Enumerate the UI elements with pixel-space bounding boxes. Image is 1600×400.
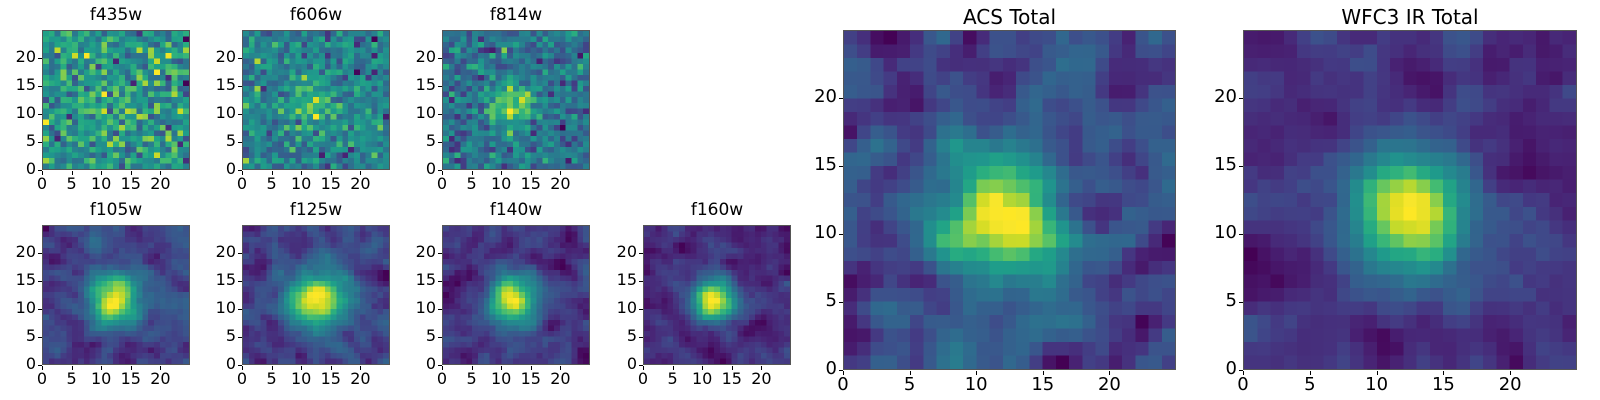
- x-tick-label: 0: [821, 376, 865, 394]
- y-tick-label: 20: [2, 244, 36, 260]
- y-tick-label: 0: [2, 161, 36, 177]
- x-tick-mark: [1310, 371, 1311, 375]
- y-tick-label: 10: [402, 105, 436, 121]
- panel-title: f125w: [242, 200, 390, 220]
- y-tick-label: 15: [202, 272, 236, 288]
- y-tick-mark: [839, 98, 843, 99]
- x-tick-label: 20: [538, 371, 582, 387]
- x-tick-mark: [42, 366, 43, 370]
- y-tick-label: 5: [603, 328, 637, 344]
- x-tick-mark: [360, 366, 361, 370]
- x-tick-mark: [72, 171, 73, 175]
- x-tick-mark: [560, 366, 561, 370]
- heatmap-canvas: [43, 31, 189, 169]
- x-tick-mark: [331, 366, 332, 370]
- x-tick-mark: [560, 171, 561, 175]
- x-tick-label: 5: [888, 376, 932, 394]
- y-tick-label: 5: [402, 328, 436, 344]
- y-tick-mark: [38, 58, 42, 59]
- x-tick-mark: [131, 171, 132, 175]
- y-tick-label: 20: [1203, 88, 1237, 106]
- x-tick-mark: [732, 366, 733, 370]
- x-tick-label: 20: [739, 371, 783, 387]
- heatmap-canvas: [1244, 31, 1576, 369]
- y-tick-mark: [238, 337, 242, 338]
- y-tick-label: 20: [603, 244, 637, 260]
- y-tick-label: 0: [402, 356, 436, 372]
- y-tick-label: 0: [603, 356, 637, 372]
- y-tick-label: 10: [2, 105, 36, 121]
- x-tick-mark: [242, 366, 243, 370]
- y-tick-mark: [1239, 234, 1243, 235]
- y-tick-label: 15: [202, 77, 236, 93]
- heatmap-canvas: [644, 226, 790, 364]
- panel-title: ACS Total: [843, 5, 1176, 29]
- y-tick-label: 20: [202, 244, 236, 260]
- y-tick-label: 10: [402, 300, 436, 316]
- panel-f606w: f606w0510152005101520: [202, 4, 390, 200]
- panel-title: f140w: [442, 200, 590, 220]
- figure-canvas: f435w0510152005101520f606w05101520051015…: [0, 0, 1600, 400]
- panel-f435w: f435w0510152005101520: [2, 4, 190, 200]
- x-tick-mark: [442, 171, 443, 175]
- y-tick-label: 10: [803, 224, 837, 242]
- y-tick-label: 15: [1203, 156, 1237, 174]
- x-tick-label: 20: [538, 176, 582, 192]
- x-tick-label: 20: [1087, 376, 1131, 394]
- panel-f140w: f140w0510152005101520: [402, 199, 590, 395]
- heatmap-image: [1243, 30, 1577, 370]
- y-tick-label: 20: [402, 244, 436, 260]
- x-tick-mark: [360, 171, 361, 175]
- y-tick-mark: [38, 86, 42, 87]
- y-tick-label: 5: [202, 133, 236, 149]
- x-tick-label: 0: [1221, 376, 1265, 394]
- panel-title: f606w: [242, 5, 390, 25]
- x-tick-mark: [1043, 371, 1044, 375]
- y-tick-mark: [238, 253, 242, 254]
- y-tick-mark: [238, 58, 242, 59]
- x-tick-mark: [472, 366, 473, 370]
- y-tick-mark: [1239, 302, 1243, 303]
- y-tick-label: 20: [2, 49, 36, 65]
- y-tick-label: 20: [803, 88, 837, 106]
- x-tick-mark: [1377, 371, 1378, 375]
- heatmap-canvas: [844, 31, 1175, 369]
- y-tick-mark: [1239, 166, 1243, 167]
- x-tick-mark: [1109, 371, 1110, 375]
- y-tick-mark: [438, 337, 442, 338]
- y-tick-mark: [1239, 98, 1243, 99]
- x-tick-mark: [531, 366, 532, 370]
- x-tick-mark: [472, 171, 473, 175]
- heatmap-canvas: [443, 226, 589, 364]
- y-tick-label: 20: [402, 49, 436, 65]
- x-tick-mark: [843, 371, 844, 375]
- x-tick-mark: [331, 171, 332, 175]
- y-tick-mark: [438, 58, 442, 59]
- x-tick-label: 20: [338, 371, 382, 387]
- y-tick-mark: [438, 114, 442, 115]
- x-tick-mark: [301, 171, 302, 175]
- x-tick-label: 20: [138, 371, 182, 387]
- heatmap-canvas: [443, 31, 589, 169]
- y-tick-mark: [38, 337, 42, 338]
- y-tick-label: 15: [2, 272, 36, 288]
- y-tick-label: 0: [202, 356, 236, 372]
- x-tick-mark: [501, 171, 502, 175]
- panel-acs-total: ACS Total0510152005101520: [803, 4, 1176, 400]
- x-tick-mark: [1443, 371, 1444, 375]
- y-tick-mark: [438, 142, 442, 143]
- y-tick-mark: [38, 142, 42, 143]
- y-tick-mark: [38, 281, 42, 282]
- heatmap-canvas: [243, 226, 389, 364]
- x-tick-mark: [101, 366, 102, 370]
- x-tick-mark: [242, 171, 243, 175]
- y-tick-label: 10: [202, 300, 236, 316]
- y-tick-mark: [38, 114, 42, 115]
- x-tick-label: 15: [1021, 376, 1065, 394]
- x-tick-mark: [131, 366, 132, 370]
- x-tick-label: 20: [1488, 376, 1532, 394]
- y-tick-label: 10: [603, 300, 637, 316]
- panel-title: f105w: [42, 200, 190, 220]
- y-tick-mark: [438, 86, 442, 87]
- panel-f105w: f105w0510152005101520: [2, 199, 190, 395]
- y-tick-label: 15: [402, 77, 436, 93]
- x-tick-label: 10: [1355, 376, 1399, 394]
- x-tick-mark: [910, 371, 911, 375]
- y-tick-mark: [438, 309, 442, 310]
- y-tick-mark: [38, 309, 42, 310]
- y-tick-label: 15: [402, 272, 436, 288]
- y-tick-label: 15: [2, 77, 36, 93]
- y-tick-label: 10: [2, 300, 36, 316]
- x-tick-label: 20: [138, 176, 182, 192]
- y-tick-label: 0: [402, 161, 436, 177]
- heatmap-canvas: [243, 31, 389, 169]
- x-tick-mark: [643, 366, 644, 370]
- heatmap-image: [42, 30, 190, 170]
- y-tick-mark: [438, 281, 442, 282]
- y-tick-label: 10: [202, 105, 236, 121]
- y-tick-label: 5: [202, 328, 236, 344]
- x-tick-mark: [442, 366, 443, 370]
- x-tick-mark: [976, 371, 977, 375]
- y-tick-mark: [438, 253, 442, 254]
- panel-title: f160w: [643, 200, 791, 220]
- heatmap-image: [843, 30, 1176, 370]
- y-tick-mark: [839, 302, 843, 303]
- y-tick-mark: [238, 142, 242, 143]
- x-tick-mark: [72, 366, 73, 370]
- y-tick-label: 5: [2, 133, 36, 149]
- x-tick-mark: [531, 171, 532, 175]
- x-tick-mark: [1510, 371, 1511, 375]
- y-tick-label: 5: [803, 292, 837, 310]
- x-tick-label: 10: [954, 376, 998, 394]
- x-tick-mark: [761, 366, 762, 370]
- y-tick-label: 5: [1203, 292, 1237, 310]
- heatmap-image: [42, 225, 190, 365]
- y-tick-label: 5: [402, 133, 436, 149]
- x-tick-label: 15: [1421, 376, 1465, 394]
- panel-f125w: f125w0510152005101520: [202, 199, 390, 395]
- y-tick-mark: [839, 234, 843, 235]
- panel-title: f435w: [42, 5, 190, 25]
- y-tick-mark: [238, 309, 242, 310]
- y-tick-label: 15: [803, 156, 837, 174]
- x-tick-mark: [673, 366, 674, 370]
- y-tick-label: 0: [2, 356, 36, 372]
- panel-f160w: f160w0510152005101520: [603, 199, 791, 395]
- panel-f814w: f814w0510152005101520: [402, 4, 590, 200]
- x-tick-mark: [160, 171, 161, 175]
- x-tick-mark: [101, 171, 102, 175]
- x-tick-mark: [272, 366, 273, 370]
- x-tick-mark: [501, 366, 502, 370]
- y-tick-mark: [639, 253, 643, 254]
- panel-wfc3-ir-total: WFC3 IR Total0510152005101520: [1203, 4, 1577, 400]
- heatmap-image: [442, 30, 590, 170]
- panel-title: f814w: [442, 5, 590, 25]
- y-tick-mark: [38, 253, 42, 254]
- x-tick-label: 20: [338, 176, 382, 192]
- heatmap-image: [643, 225, 791, 365]
- heatmap-image: [442, 225, 590, 365]
- heatmap-image: [242, 30, 390, 170]
- x-tick-mark: [1243, 371, 1244, 375]
- y-tick-label: 0: [202, 161, 236, 177]
- y-tick-label: 10: [1203, 224, 1237, 242]
- y-tick-mark: [639, 309, 643, 310]
- x-tick-mark: [301, 366, 302, 370]
- y-tick-mark: [639, 337, 643, 338]
- y-tick-mark: [238, 114, 242, 115]
- x-tick-mark: [42, 171, 43, 175]
- heatmap-image: [242, 225, 390, 365]
- y-tick-mark: [238, 281, 242, 282]
- y-tick-label: 5: [2, 328, 36, 344]
- y-tick-mark: [839, 166, 843, 167]
- y-tick-mark: [639, 281, 643, 282]
- x-tick-mark: [702, 366, 703, 370]
- x-tick-mark: [272, 171, 273, 175]
- panel-title: WFC3 IR Total: [1243, 5, 1577, 29]
- x-tick-label: 5: [1288, 376, 1332, 394]
- heatmap-canvas: [43, 226, 189, 364]
- y-tick-mark: [238, 86, 242, 87]
- y-tick-label: 15: [603, 272, 637, 288]
- y-tick-label: 20: [202, 49, 236, 65]
- x-tick-mark: [160, 366, 161, 370]
